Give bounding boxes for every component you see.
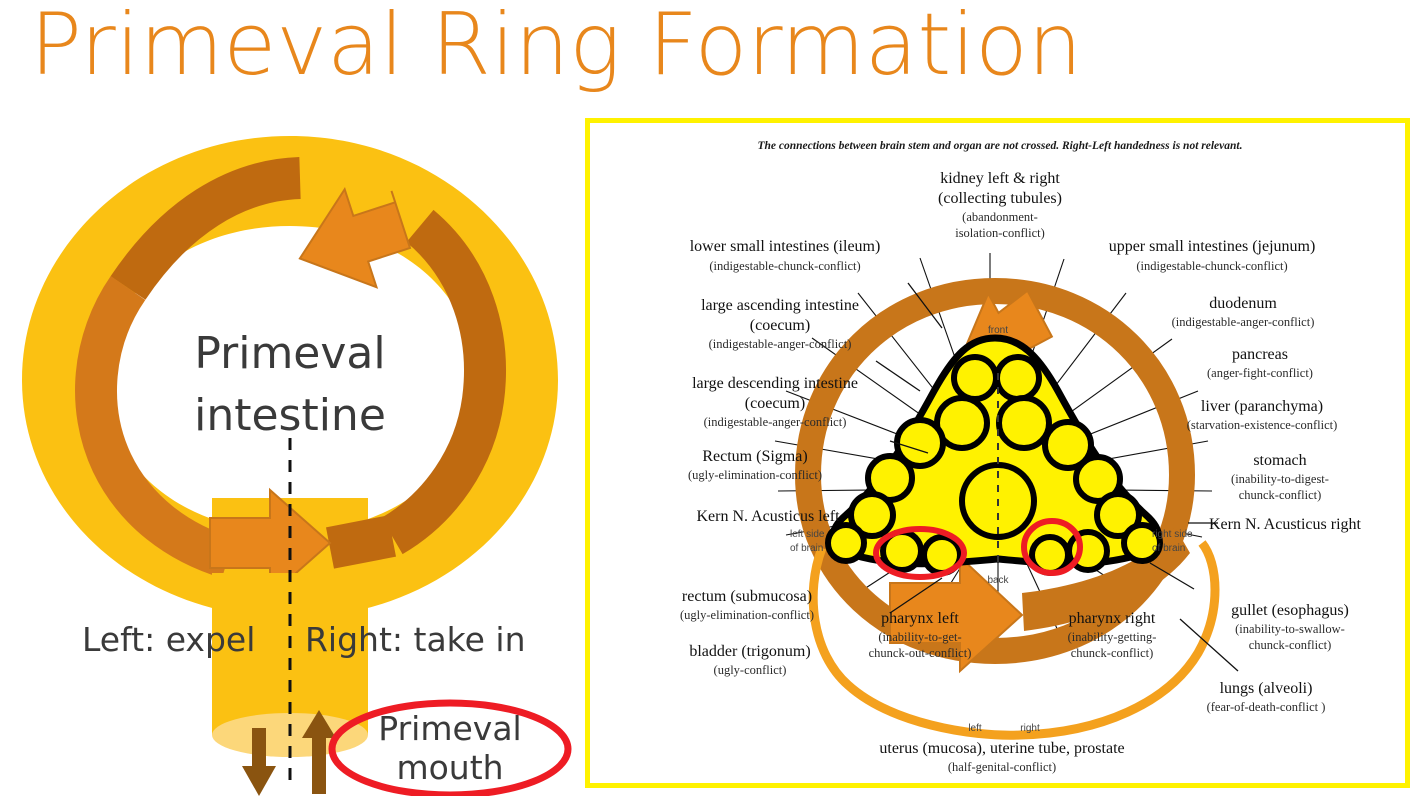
label-organ: liver (paranchyma) <box>1201 398 1323 415</box>
left-expel-label: Left: expel <box>82 620 255 659</box>
label-organ: pharynx left <box>881 610 959 627</box>
label-conflict-2: chunck-out-conflict) <box>869 646 972 660</box>
primeval-mouth-label-line1: Primeval <box>378 709 521 748</box>
label-conflict-2: isolation-conflict) <box>955 226 1045 240</box>
label-conflict: (indigestable-anger-conflict) <box>709 337 852 351</box>
label-conflict-1: (inability-to-get- <box>878 630 961 644</box>
back-label: back <box>987 575 1009 586</box>
label-organ-2: (collecting tubules) <box>938 190 1062 207</box>
label-organ: kidney left & right <box>940 170 1060 187</box>
label-conflict: (starvation-existence-conflict) <box>1187 418 1338 432</box>
label-duodenum: duodenum (indigestable-anger-conflict) <box>1172 295 1315 329</box>
front-label: front <box>988 325 1008 336</box>
left-tag: left <box>968 723 982 734</box>
right-tag: right <box>1020 723 1040 734</box>
label-organ: Rectum (Sigma) <box>702 448 807 465</box>
label-conflict: (half-genital-conflict) <box>948 760 1056 774</box>
label-conflict-1: (abandonment- <box>962 210 1038 224</box>
label-conflict: (ugly-conflict) <box>714 663 787 677</box>
label-conflict-2: chunck-conflict) <box>1239 488 1322 502</box>
label-conflict-2: chunck-conflict) <box>1249 638 1332 652</box>
label-kern-acusticus-left: Kern N. Acusticus left <box>696 508 840 525</box>
label-conflict: (indigestable-anger-conflict) <box>1172 315 1315 329</box>
label-organ: Kern N. Acusticus right <box>1209 516 1362 533</box>
label-pharynx-right: pharynx right (inability-getting- chunck… <box>1068 610 1157 660</box>
label-organ: stomach <box>1253 452 1306 469</box>
label-liver: liver (paranchyma) (starvation-existence… <box>1187 398 1338 432</box>
label-pancreas: pancreas (anger-fight-conflict) <box>1207 346 1313 380</box>
left-side-of-brain-line1: left side <box>790 529 825 540</box>
label-conflict: (anger-fight-conflict) <box>1207 366 1313 380</box>
label-organ: Kern N. Acusticus left <box>696 508 840 525</box>
nucleus <box>828 525 864 561</box>
diagram-note: The connections between brain stem and o… <box>758 140 1243 152</box>
label-conflict: (indigestable-anger-conflict) <box>704 415 847 429</box>
ring-center-label-line2: intestine <box>194 390 386 441</box>
label-bladder-trigonum: bladder (trigonum) (ugly-conflict) <box>689 643 810 677</box>
nucleus <box>954 357 996 399</box>
label-conflict-1: (inability-getting- <box>1068 630 1157 644</box>
label-conflict: (ugly-elimination-conflict) <box>680 608 814 622</box>
label-conflict-1: (inability-to-digest- <box>1231 472 1329 486</box>
label-organ: large descending intestine <box>692 375 858 392</box>
label-conflict: (indigestable-chunck-conflict) <box>709 259 860 273</box>
right-side-of-brain-line2: of brain <box>1152 543 1185 554</box>
label-lower-small-intestines: lower small intestines (ileum) (indigest… <box>690 238 881 273</box>
nucleus <box>997 357 1039 399</box>
label-lungs-alveoli: lungs (alveoli) (fear-of-death-conflict … <box>1207 680 1326 714</box>
label-conflict: (indigestable-chunck-conflict) <box>1136 259 1287 273</box>
label-large-ascending-intestine: large ascending intestine (coecum) (indi… <box>701 297 859 351</box>
right-takein-label: Right: take in <box>305 620 525 659</box>
label-conflict: (ugly-elimination-conflict) <box>688 468 822 482</box>
label-conflict-1: (inability-to-swallow- <box>1235 622 1345 636</box>
label-kern-acusticus-right: Kern N. Acusticus right <box>1188 516 1362 533</box>
primeval-mouth-label-line2: mouth <box>396 748 503 787</box>
label-organ-2: (coecum) <box>745 395 805 412</box>
page-title: Primeval Ring Formation <box>30 0 1082 95</box>
right-side-of-brain-line1: right side <box>1152 529 1193 540</box>
label-organ: gullet (esophagus) <box>1231 602 1349 619</box>
left-side-of-brain-line2: of brain <box>790 543 823 554</box>
ring-center-label-line1: Primeval <box>194 328 385 379</box>
label-kidney: kidney left & right (collecting tubules)… <box>938 170 1062 240</box>
label-organ: rectum (submucosa) <box>682 588 812 605</box>
label-organ: duodenum <box>1209 295 1277 312</box>
label-organ: lower small intestines (ileum) <box>690 238 881 255</box>
label-upper-small-intestines: upper small intestines (jejunum) (indige… <box>1109 238 1316 273</box>
label-organ: bladder (trigonum) <box>689 643 810 660</box>
brainstem-organ-map: The connections between brain stem and o… <box>585 118 1410 788</box>
label-conflict-2: chunck-conflict) <box>1071 646 1154 660</box>
label-gullet-esophagus: gullet (esophagus) (inability-to-swallow… <box>1231 602 1349 652</box>
nucleus <box>999 398 1049 448</box>
label-rectum-submucosa: rectum (submucosa) (ugly-elimination-con… <box>680 588 814 622</box>
label-organ-2: (coecum) <box>750 317 810 334</box>
label-organ: pharynx right <box>1069 610 1156 627</box>
primeval-ring-diagram: Primeval intestine Left: expel Right: ta… <box>0 118 580 796</box>
label-stomach: stomach (inability-to-digest- chunck-con… <box>1231 452 1329 502</box>
label-organ: large ascending intestine <box>701 297 859 314</box>
label-pharynx-left: pharynx left (inability-to-get- chunck-o… <box>869 610 972 660</box>
label-organ: pancreas <box>1232 346 1288 363</box>
label-conflict: (fear-of-death-conflict ) <box>1207 700 1326 714</box>
label-organ: uterus (mucosa), uterine tube, prostate <box>879 740 1124 757</box>
label-organ: lungs (alveoli) <box>1220 680 1313 697</box>
label-organ: upper small intestines (jejunum) <box>1109 238 1316 255</box>
